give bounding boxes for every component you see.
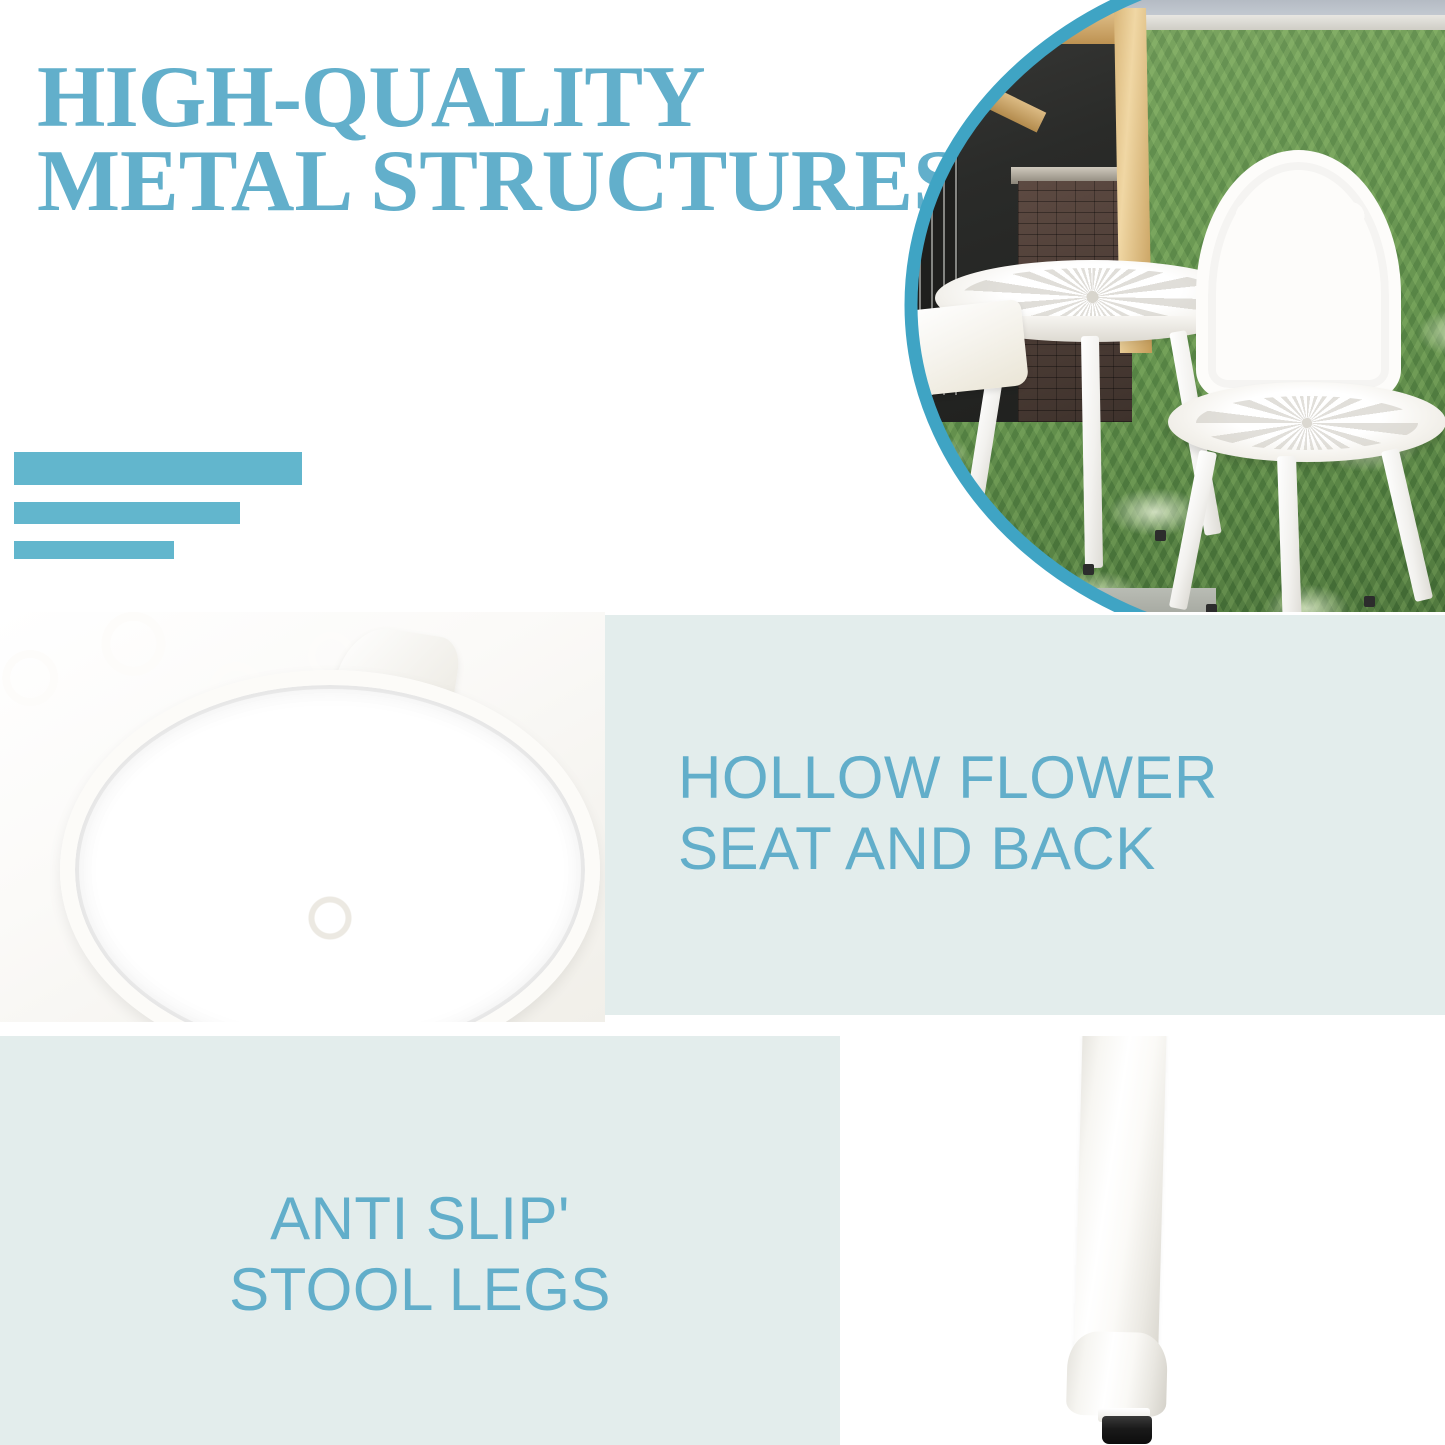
accent-bar-1 [14, 452, 302, 485]
chair-leg [1169, 450, 1217, 610]
chair-seat [760, 408, 930, 480]
table-foot-cap [1083, 564, 1094, 575]
headline-line-1: HIGH-QUALITY [37, 56, 837, 140]
mid-heading-line-2: SEAT AND BACK [678, 814, 1378, 885]
page-title: HIGH-QUALITY METAL STRUCTURES [37, 56, 837, 223]
accent-bar-group [14, 452, 302, 576]
mid-heading-line-1: HOLLOW FLOWER [678, 743, 1378, 814]
product-infographic: HIGH-QUALITY METAL STRUCTURES [0, 0, 1445, 1445]
section-metal-structures: HIGH-QUALITY METAL STRUCTURES [0, 0, 1445, 612]
chair-leg [872, 468, 918, 608]
chair-leg [774, 478, 800, 612]
anti-slip-foot-cap [1102, 1416, 1152, 1444]
headline-line-2: METAL STRUCTURES [37, 140, 837, 224]
hero-lifestyle-photo [760, 0, 1445, 612]
table-foot-cap [1155, 530, 1166, 541]
filigree-detail-photo [0, 612, 605, 1022]
anti-slip-text-panel: ANTI SLIP' STOOL LEGS [0, 1036, 840, 1445]
pergola-beam [790, 10, 1140, 45]
accent-bar-3 [14, 541, 174, 559]
chair-foot-cap [856, 602, 867, 612]
table-leg [1081, 336, 1103, 568]
chair-leg [1381, 448, 1433, 602]
chair-backrest [760, 210, 887, 425]
bot-heading-line-2: STOOL LEGS [0, 1255, 840, 1326]
hero-photo-clip [760, 0, 1445, 612]
bot-heading-line-1: ANTI SLIP' [0, 1184, 840, 1255]
section-anti-slip-legs: ANTI SLIP' STOOL LEGS [0, 1036, 1445, 1445]
bistro-chair-right [1168, 150, 1445, 612]
anti-slip-heading: ANTI SLIP' STOOL LEGS [0, 1184, 840, 1326]
bistro-chair-left [760, 210, 950, 612]
section-hollow-flower: HOLLOW FLOWER SEAT AND BACK [0, 612, 1445, 1022]
backrest-scrollwork [1210, 166, 1390, 374]
hollow-flower-text-panel: HOLLOW FLOWER SEAT AND BACK [605, 615, 1445, 1015]
pergola-post-left [810, 8, 867, 436]
seat-filigree-pattern [1196, 396, 1418, 450]
accent-bar-2 [14, 502, 240, 524]
backrest-scrollwork [760, 224, 876, 404]
chair-leg [1277, 456, 1302, 612]
stool-leg-flare [1066, 1331, 1168, 1418]
hollow-flower-heading: HOLLOW FLOWER SEAT AND BACK [678, 743, 1378, 885]
table-foot-cap [1007, 536, 1018, 547]
chair-foot-cap [1364, 596, 1375, 607]
chair-foot-cap [1206, 604, 1217, 612]
stool-leg-photo [840, 1036, 1445, 1445]
seat-filigree-pattern [760, 420, 906, 470]
folded-towel [901, 299, 1029, 397]
